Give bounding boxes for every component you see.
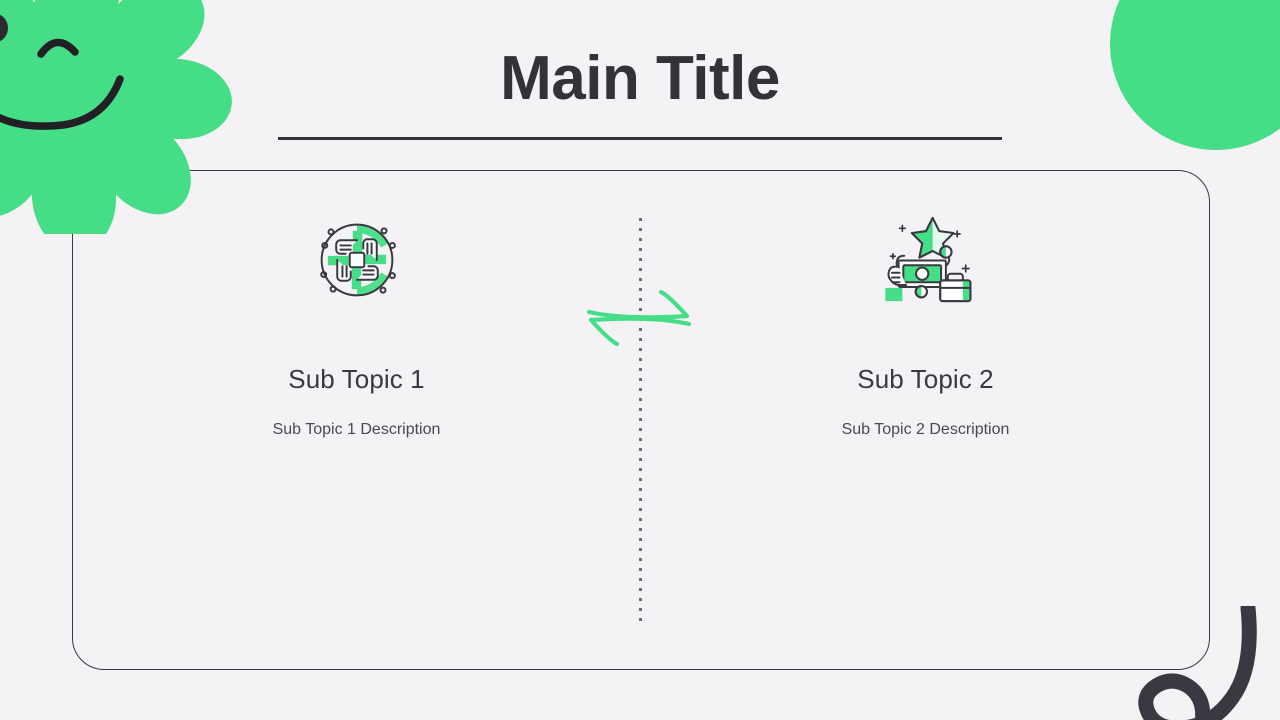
topic-title-2: Sub Topic 2 xyxy=(857,364,994,395)
exchange-arrows-icon xyxy=(583,290,695,346)
slide-canvas: Main Title xyxy=(0,0,1280,720)
topic-column-1: Sub Topic 1 Sub Topic 1 Description xyxy=(72,170,641,439)
topic-column-2: Sub Topic 2 Sub Topic 2 Description xyxy=(641,170,1210,439)
center-divider xyxy=(639,218,641,622)
teamwork-hands-circle-icon xyxy=(305,208,409,312)
topic-title-1: Sub Topic 1 xyxy=(288,364,425,395)
page-title: Main Title xyxy=(0,46,1280,111)
money-star-briefcase-icon xyxy=(874,208,978,312)
title-underline-rule xyxy=(278,137,1002,140)
topic-description-2: Sub Topic 2 Description xyxy=(842,421,1010,439)
divider-dotted-line xyxy=(639,218,642,622)
topic-description-1: Sub Topic 1 Description xyxy=(273,421,441,439)
title-block: Main Title xyxy=(0,46,1280,140)
